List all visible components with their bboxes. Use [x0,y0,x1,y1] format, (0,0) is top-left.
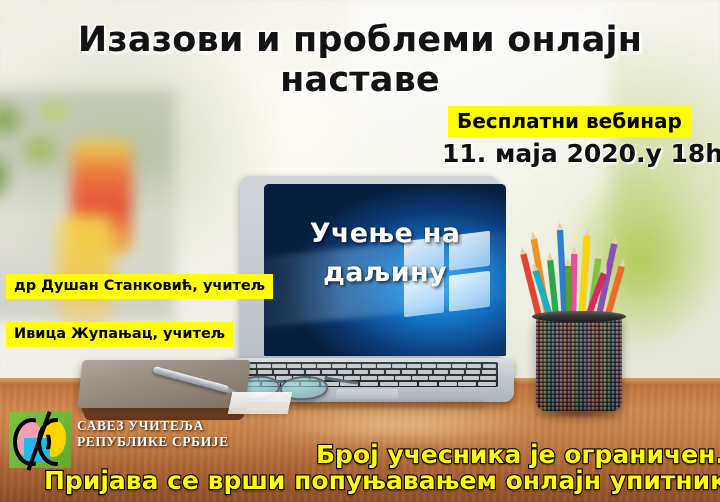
colored-pencils [520,215,638,325]
cup-mesh-texture [536,315,622,411]
mesh-cup [536,315,622,411]
cup-rim [532,311,626,322]
organization-name-line1: САВЕЗ УЧИТЕЉА [77,418,307,434]
screen-headline-line2: даљину [264,253,506,292]
presenter-1: др Душан Станковић, учитељ [6,274,273,299]
blurred-yellow-object [58,215,113,325]
pencil-holder [520,215,638,415]
organization-name: САВЕЗ УЧИТЕЉА РЕПУБЛИКЕ СРБИЈЕ [77,418,307,449]
screen-headline: Учење на даљину [264,214,506,292]
page-title: Изазови и проблеми онлајн наставе [0,20,720,100]
event-datetime: 11. маја 2020.у 18h [442,139,720,168]
notebook [80,360,248,426]
cup-shadow [526,405,632,421]
organization-name-line2: РЕПУБЛИКЕ СРБИЈЕ [77,434,307,450]
laptop-lid: Учење на даљину [240,176,498,362]
notice-line-1: Број учесника је ограничен. [316,440,720,469]
screen-headline-line1: Учење на [264,214,506,253]
notice-line-2: Пријава се врши попуњавањем онлајн упитн… [44,466,720,495]
presenter-2: Ивица Жупањац, учитељ [6,322,233,347]
webinar-poster: Учење на даљину [0,0,720,502]
organization-logo [9,412,71,468]
laptop-screen: Учење на даљину [264,184,506,356]
eyeglasses-bridge [274,380,284,383]
free-webinar-badge: Бесплатни вебинар [448,106,691,137]
desk-paper [228,392,293,414]
